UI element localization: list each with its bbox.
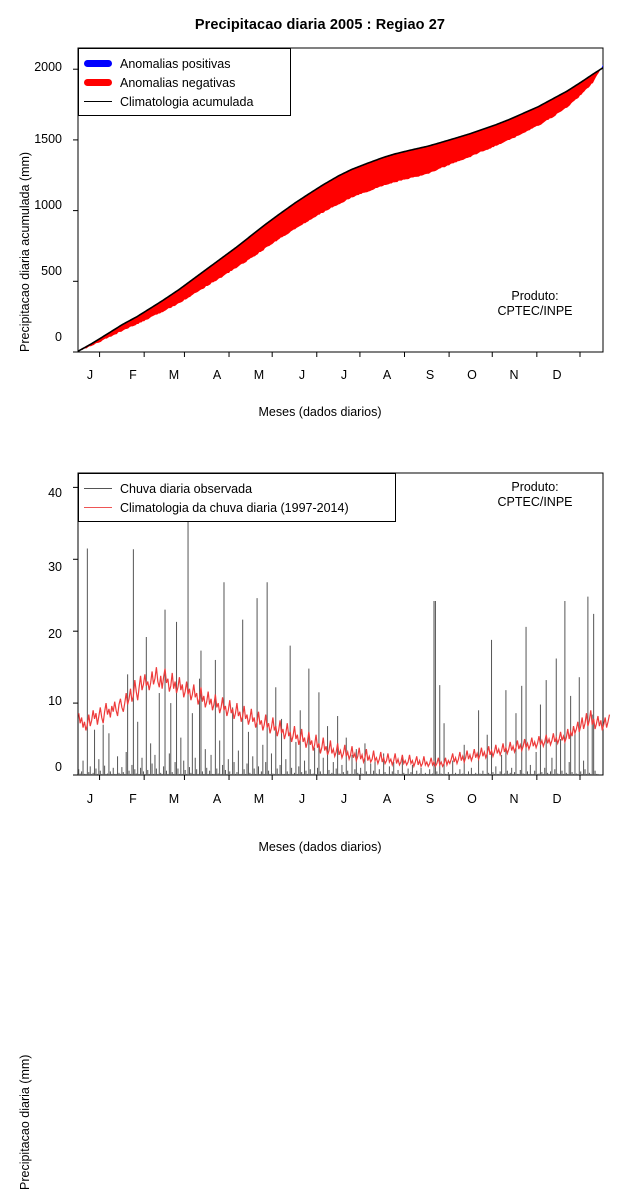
accumulated-precipitation-panel: Precipitacao diaria 2005 : Regiao 27 Pre… xyxy=(0,0,640,430)
top-legend-label-negative: Anomalias negativas xyxy=(117,76,235,90)
red-thin-line-icon xyxy=(79,507,117,508)
top-legend-item-climatology[interactable]: Climatologia acumulada xyxy=(79,92,290,111)
blue-thick-line-icon xyxy=(79,60,117,67)
top-legend: Anomalias positivas Anomalias negativas … xyxy=(78,48,291,116)
chart-page: Precipitacao diaria 2005 : Regiao 27 Pre… xyxy=(0,0,640,850)
top-legend-label-climatology: Climatologia acumulada xyxy=(117,95,253,109)
bottom-legend: Chuva diaria observada Climatologia da c… xyxy=(78,473,396,522)
bottom-produto-line1: Produto: xyxy=(511,480,558,494)
bottom-produto-line2: CPTEC/INPE xyxy=(497,495,572,509)
bottom-y-axis-title: Precipitacao diaria (mm) xyxy=(18,1055,32,1190)
bottom-produto-annotation: Produto: CPTEC/INPE xyxy=(470,480,600,510)
top-legend-item-positive[interactable]: Anomalias positivas xyxy=(79,54,290,73)
bottom-legend-item-climatology[interactable]: Climatologia da chuva diaria (1997-2014) xyxy=(79,498,395,517)
top-legend-item-negative[interactable]: Anomalias negativas xyxy=(79,73,290,92)
daily-precipitation-panel: Precipitacao diaria (mm) Meses (dados di… xyxy=(0,430,640,850)
top-produto-annotation: Produto: CPTEC/INPE xyxy=(470,289,600,319)
bottom-legend-label-climatology: Climatologia da chuva diaria (1997-2014) xyxy=(117,501,349,515)
top-legend-label-positive: Anomalias positivas xyxy=(117,57,230,71)
black-thin-line-icon xyxy=(79,101,117,102)
top-produto-line1: Produto: xyxy=(511,289,558,303)
top-produto-line2: CPTEC/INPE xyxy=(497,304,572,318)
red-thick-line-icon xyxy=(79,79,117,86)
bottom-legend-item-observed[interactable]: Chuva diaria observada xyxy=(79,479,395,498)
bottom-legend-label-observed: Chuva diaria observada xyxy=(117,482,252,496)
grey-thin-line-icon xyxy=(79,488,117,489)
